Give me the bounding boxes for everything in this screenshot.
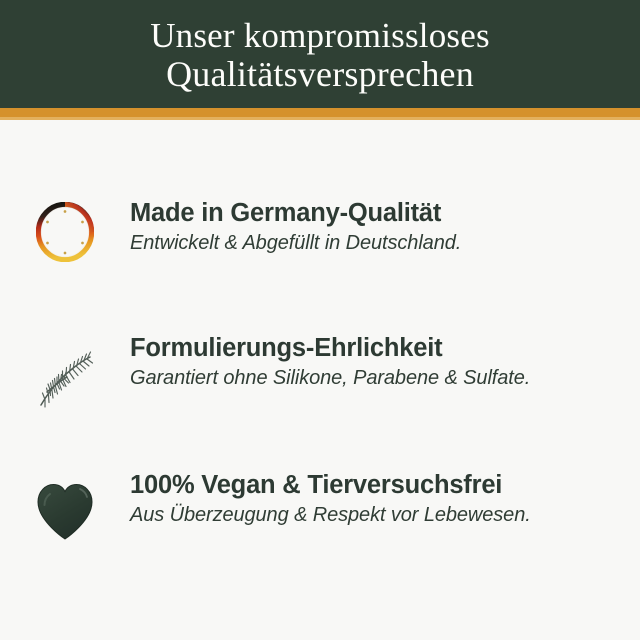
feature-title: Formulierungs-Ehrlichkeit bbox=[130, 333, 640, 364]
feature-title: Made in Germany-Qualität bbox=[130, 198, 640, 229]
feature-icon-slot bbox=[0, 470, 130, 542]
feature-item-made-in-germany: Made in Germany-Qualität Entwickelt & Ab… bbox=[0, 198, 640, 262]
header-title-line-2: Qualitätsversprechen bbox=[166, 55, 474, 94]
feature-list: Made in Germany-Qualität Entwickelt & Ab… bbox=[0, 120, 640, 640]
rosemary-sprig-icon bbox=[34, 347, 96, 409]
header-title-line-1: Unser kompromissloses bbox=[150, 16, 490, 55]
feature-item-formulation-honesty: Formulierungs-Ehrlichkeit Garantiert ohn… bbox=[0, 333, 640, 409]
german-flag-ring-icon bbox=[36, 202, 94, 262]
feature-icon-slot bbox=[0, 198, 130, 262]
feature-item-vegan-cruelty-free: 100% Vegan & Tierversuchsfrei Aus Überze… bbox=[0, 470, 640, 542]
heart-icon bbox=[35, 480, 95, 542]
feature-icon-slot bbox=[0, 333, 130, 409]
quality-promise-panel: Unser kompromissloses Qualitätsversprech… bbox=[0, 0, 640, 640]
feature-subtitle: Garantiert ohne Silikone, Parabene & Sul… bbox=[130, 365, 640, 391]
feature-subtitle: Aus Überzeugung & Respekt vor Lebewesen. bbox=[130, 502, 640, 528]
gold-divider bbox=[0, 108, 640, 117]
feature-text-block: Formulierungs-Ehrlichkeit Garantiert ohn… bbox=[130, 333, 640, 391]
header-banner: Unser kompromissloses Qualitätsversprech… bbox=[0, 0, 640, 108]
feature-text-block: Made in Germany-Qualität Entwickelt & Ab… bbox=[130, 198, 640, 256]
feature-title: 100% Vegan & Tierversuchsfrei bbox=[130, 470, 640, 501]
feature-text-block: 100% Vegan & Tierversuchsfrei Aus Überze… bbox=[130, 470, 640, 528]
feature-subtitle: Entwickelt & Abgefüllt in Deutschland. bbox=[130, 230, 640, 256]
